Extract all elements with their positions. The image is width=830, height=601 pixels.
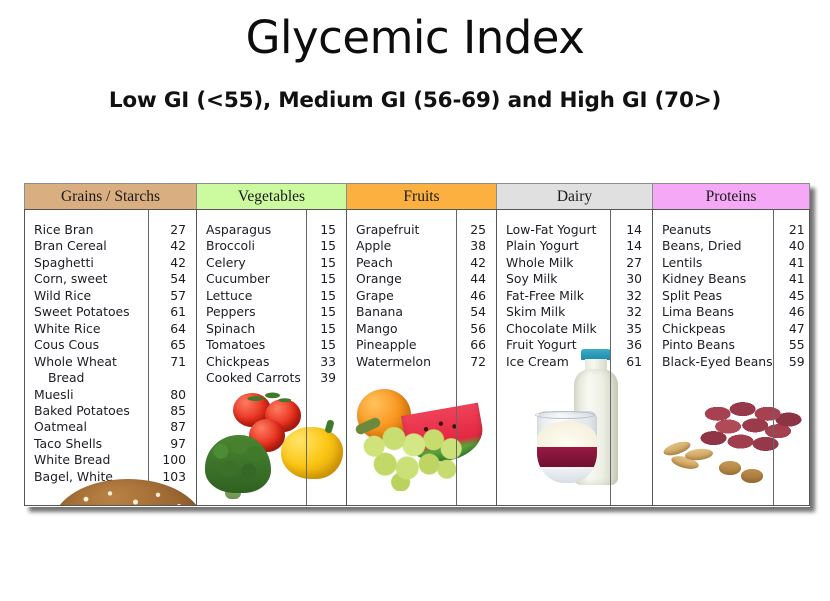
list-item: Watermelon bbox=[356, 354, 456, 370]
list-item: Black-Eyed Beans bbox=[662, 354, 773, 370]
list-item: Skim Milk bbox=[506, 304, 610, 320]
gi-value: 87 bbox=[149, 419, 186, 435]
page-title: Glycemic Index bbox=[0, 14, 830, 61]
list-item: Oatmeal bbox=[34, 419, 148, 435]
list-item: Cucumber bbox=[206, 271, 306, 287]
list-item: Celery bbox=[206, 255, 306, 271]
column-header-vegetables: Vegetables bbox=[197, 184, 347, 209]
page-subtitle: Low GI (<55), Medium GI (56-69) and High… bbox=[0, 88, 830, 113]
dairy-food-names: Low-Fat Yogurt Plain Yogurt Whole Milk S… bbox=[497, 210, 610, 505]
gi-value: 47 bbox=[774, 321, 805, 337]
list-item: Plain Yogurt bbox=[506, 238, 610, 254]
list-item: Chocolate Milk bbox=[506, 321, 610, 337]
gi-value: 41 bbox=[774, 255, 805, 271]
gi-value: 64 bbox=[149, 321, 186, 337]
gi-value: 33 bbox=[307, 354, 336, 370]
list-item-line1: Whole Wheat bbox=[34, 354, 117, 369]
gi-value: 15 bbox=[307, 337, 336, 353]
vegetables-food-names: Asparagus Broccoli Celery Cucumber Lettu… bbox=[197, 210, 306, 505]
gi-value: 103 bbox=[149, 469, 186, 485]
gi-value: 45 bbox=[774, 288, 805, 304]
gi-value: 15 bbox=[307, 288, 336, 304]
gi-value: 54 bbox=[149, 271, 186, 287]
column-grains-starchs: Rice Bran Bran Cereal Spaghetti Corn, sw… bbox=[25, 210, 197, 505]
gi-value: 21 bbox=[774, 222, 805, 238]
list-item: Bagel, White bbox=[34, 469, 148, 485]
column-header-grains-starchs: Grains / Starchs bbox=[25, 184, 197, 209]
list-item: Ice Cream bbox=[506, 354, 610, 370]
list-item: Orange bbox=[356, 271, 456, 287]
gi-value: 100 bbox=[149, 452, 186, 468]
fruits-food-names: Grapefruit Apple Peach Orange Grape Bana… bbox=[347, 210, 456, 505]
list-item: Apple bbox=[356, 238, 456, 254]
gi-value: 46 bbox=[774, 304, 805, 320]
list-item: Whole Milk bbox=[506, 255, 610, 271]
list-item: Low-Fat Yogurt bbox=[506, 222, 610, 238]
gi-value: 44 bbox=[457, 271, 486, 287]
list-item: Soy Milk bbox=[506, 271, 610, 287]
gi-value: 85 bbox=[149, 403, 186, 419]
gi-value: 72 bbox=[457, 354, 486, 370]
gi-value: 15 bbox=[307, 304, 336, 320]
gi-value: 40 bbox=[774, 238, 805, 254]
gi-value: 41 bbox=[774, 271, 805, 287]
list-item: Spinach bbox=[206, 321, 306, 337]
gi-value: 61 bbox=[149, 304, 186, 320]
gi-value: 56 bbox=[457, 321, 486, 337]
gi-value: 66 bbox=[457, 337, 486, 353]
list-item: Cooked Carrots bbox=[206, 370, 306, 386]
list-item: Baked Potatoes bbox=[34, 403, 148, 419]
list-item-line2: Bread bbox=[34, 370, 148, 386]
list-item: Split Peas bbox=[662, 288, 773, 304]
column-dairy: Low-Fat Yogurt Plain Yogurt Whole Milk S… bbox=[497, 210, 653, 505]
grains-food-names: Rice Bran Bran Cereal Spaghetti Corn, sw… bbox=[25, 210, 148, 505]
gi-value: 15 bbox=[307, 238, 336, 254]
gi-value: 15 bbox=[307, 255, 336, 271]
gi-value: 61 bbox=[611, 354, 642, 370]
gi-value: 54 bbox=[457, 304, 486, 320]
list-item: Sweet Potatoes bbox=[34, 304, 148, 320]
column-vegetables: Asparagus Broccoli Celery Cucumber Lettu… bbox=[197, 210, 347, 505]
glycemic-index-table: Grains / Starchs Vegetables Fruits Dairy… bbox=[24, 183, 810, 507]
gi-value: 35 bbox=[611, 321, 642, 337]
column-header-proteins: Proteins bbox=[653, 184, 809, 209]
gi-value: 27 bbox=[611, 255, 642, 271]
list-item: Broccoli bbox=[206, 238, 306, 254]
list-item: Grapefruit bbox=[356, 222, 456, 238]
proteins-gi-values: 21 40 41 41 45 46 47 55 59 bbox=[773, 210, 809, 505]
gi-value: 38 bbox=[457, 238, 486, 254]
list-item: Fat-Free Milk bbox=[506, 288, 610, 304]
list-item: Beans, Dried bbox=[662, 238, 773, 254]
gi-value: 42 bbox=[457, 255, 486, 271]
list-item: Peanuts bbox=[662, 222, 773, 238]
gi-value: 14 bbox=[611, 238, 642, 254]
list-item: Taco Shells bbox=[34, 436, 148, 452]
column-header-fruits: Fruits bbox=[347, 184, 497, 209]
list-item: Corn, sweet bbox=[34, 271, 148, 287]
gi-value: 32 bbox=[611, 304, 642, 320]
list-item: Whole Wheat Bread bbox=[34, 354, 148, 387]
gi-value: 55 bbox=[774, 337, 805, 353]
list-item: Asparagus bbox=[206, 222, 306, 238]
list-item: White Bread bbox=[34, 452, 148, 468]
list-item: White Rice bbox=[34, 321, 148, 337]
gi-value: 65 bbox=[149, 337, 186, 353]
gi-value: 14 bbox=[611, 222, 642, 238]
list-item: Rice Bran bbox=[34, 222, 148, 238]
fruits-gi-values: 25 38 42 44 46 54 56 66 72 bbox=[456, 210, 496, 505]
column-proteins: Peanuts Beans, Dried Lentils Kidney Bean… bbox=[653, 210, 809, 505]
gi-value: 80 bbox=[149, 387, 186, 403]
gi-value: 25 bbox=[457, 222, 486, 238]
list-item: Fruit Yogurt bbox=[506, 337, 610, 353]
list-item: Banana bbox=[356, 304, 456, 320]
gi-value: 42 bbox=[149, 238, 186, 254]
list-item: Spaghetti bbox=[34, 255, 148, 271]
list-item: Cous Cous bbox=[34, 337, 148, 353]
list-item: Grape bbox=[356, 288, 456, 304]
list-item: Lentils bbox=[662, 255, 773, 271]
list-item: Lima Beans bbox=[662, 304, 773, 320]
column-fruits: Grapefruit Apple Peach Orange Grape Bana… bbox=[347, 210, 497, 505]
gi-value: 15 bbox=[307, 271, 336, 287]
gi-value: 59 bbox=[774, 354, 805, 370]
gi-value: 57 bbox=[149, 288, 186, 304]
list-item: Pinto Beans bbox=[662, 337, 773, 353]
gi-value: 15 bbox=[307, 222, 336, 238]
gi-value: 36 bbox=[611, 337, 642, 353]
dairy-gi-values: 14 14 27 30 32 32 35 36 61 bbox=[610, 210, 652, 505]
list-item: Peppers bbox=[206, 304, 306, 320]
proteins-food-names: Peanuts Beans, Dried Lentils Kidney Bean… bbox=[653, 210, 773, 505]
list-item: Peach bbox=[356, 255, 456, 271]
list-item: Pineapple bbox=[356, 337, 456, 353]
list-item: Chickpeas bbox=[206, 354, 306, 370]
gi-value: 27 bbox=[149, 222, 186, 238]
table-header-row: Grains / Starchs Vegetables Fruits Dairy… bbox=[24, 183, 810, 209]
gi-value: 39 bbox=[307, 370, 336, 386]
gi-value: 71 bbox=[149, 354, 186, 370]
gi-value: 32 bbox=[611, 288, 642, 304]
list-item: Muesli bbox=[34, 387, 148, 403]
list-item: Tomatoes bbox=[206, 337, 306, 353]
gi-value: 15 bbox=[307, 321, 336, 337]
list-item: Lettuce bbox=[206, 288, 306, 304]
table-body-row: Rice Bran Bran Cereal Spaghetti Corn, sw… bbox=[24, 209, 810, 506]
gi-value: 30 bbox=[611, 271, 642, 287]
list-item: Bran Cereal bbox=[34, 238, 148, 254]
gi-value: 97 bbox=[149, 436, 186, 452]
list-item: Chickpeas bbox=[662, 321, 773, 337]
vegetables-gi-values: 15 15 15 15 15 15 15 15 33 39 bbox=[306, 210, 346, 505]
list-item: Kidney Beans bbox=[662, 271, 773, 287]
gi-value: 46 bbox=[457, 288, 486, 304]
list-item: Mango bbox=[356, 321, 456, 337]
column-header-dairy: Dairy bbox=[497, 184, 653, 209]
gi-value: 42 bbox=[149, 255, 186, 271]
list-item: Wild Rice bbox=[34, 288, 148, 304]
grains-gi-values: 27 42 42 54 57 61 64 65 71 0 80 85 87 97… bbox=[148, 210, 196, 505]
